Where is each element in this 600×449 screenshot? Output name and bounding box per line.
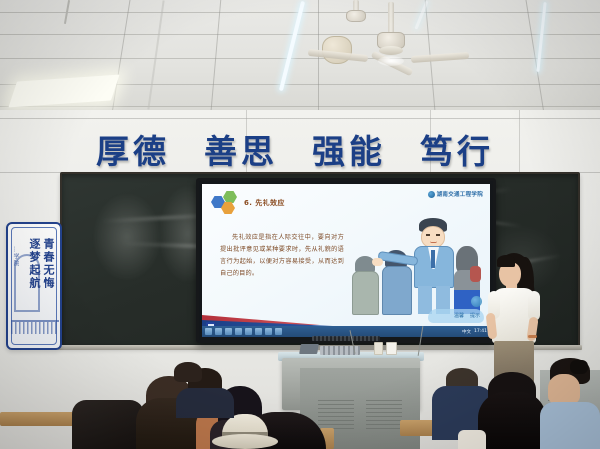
ime-indicator[interactable]: 中文 <box>462 329 471 335</box>
taskbar-icon[interactable] <box>235 328 242 335</box>
motto-char: 厚 <box>96 135 129 168</box>
student-back-row <box>168 362 208 390</box>
taskbar-icon[interactable] <box>245 328 252 335</box>
motto-char: 德 <box>133 135 166 168</box>
display-brand-label <box>312 336 380 341</box>
student-blue-top-right <box>540 358 600 449</box>
cloud-label-2: 提示 <box>470 312 480 319</box>
banner-line-1: 青春无悔 <box>43 238 54 290</box>
school-logo-icon <box>428 191 435 198</box>
student-long-hair-right <box>476 372 548 449</box>
slide-watermark-icon <box>471 296 482 307</box>
interactive-flat-panel[interactable]: 6. 先礼效应 湖南交通工程学院 先礼效应是指在人际交往中，要向对方提出批评意见… <box>196 178 496 343</box>
desk-item-cup <box>386 342 397 355</box>
banner-line-2: 逐梦起航 <box>29 238 40 290</box>
motto-char: 笃 <box>420 135 453 168</box>
illustration-person-suit <box>412 218 458 314</box>
motto-char: 强 <box>312 135 345 168</box>
school-logo: 湖南交通工程学院 <box>428 190 483 198</box>
taskbar-icon[interactable] <box>215 328 222 335</box>
cabinet-vent <box>366 400 402 430</box>
hair-clip-icon <box>570 360 588 374</box>
motto-char: 能 <box>349 135 382 168</box>
cloud-labels: 温馨 提示 <box>454 312 480 319</box>
school-logo-text: 湖南交通工程学院 <box>437 190 483 198</box>
slide-body-text: 先礼效应是指在人际交往中，要向对方提出批评意见或某种要求时，先从礼貌的语言行为起… <box>220 232 344 280</box>
banner-base-graphic <box>11 322 59 334</box>
motto-group-2: 善 思 <box>204 135 278 168</box>
student-bucket-hat <box>212 414 278 449</box>
motto-group-3: 强 能 <box>312 135 386 168</box>
teacher-bracelet <box>528 335 537 338</box>
motto-char: 行 <box>457 135 490 168</box>
slide-number: 6. <box>244 199 252 207</box>
slide-title-text: 先礼效应 <box>255 199 285 207</box>
slide-title: 6. 先礼效应 <box>244 198 285 208</box>
tube-light-right <box>279 1 305 91</box>
presentation-slide[interactable]: 6. 先礼效应 湖南交通工程学院 先礼效应是指在人际交往中，要向对方提出批评意见… <box>202 184 490 337</box>
banner-side-text: …学院 <box>11 246 20 267</box>
motto-group-1: 厚 德 <box>96 135 170 168</box>
desk-item-laptop <box>299 344 319 354</box>
taskbar-start-icon[interactable] <box>205 328 212 335</box>
wall-motto: 厚 德 善 思 强 能 笃 行 <box>96 130 516 172</box>
ceiling-fan-far <box>336 0 376 34</box>
taskbar-icon[interactable] <box>225 328 232 335</box>
hexagon-decor-icon <box>211 191 241 217</box>
motto-char: 思 <box>241 135 274 168</box>
ceiling <box>0 0 600 120</box>
taskbar-tray[interactable]: 中文 17:41 <box>462 329 487 335</box>
taskbar-icon[interactable] <box>275 328 282 335</box>
bucket-hat-brim <box>212 434 278 449</box>
motto-group-4: 笃 行 <box>420 135 494 168</box>
wall-banner: 青春无悔 逐梦起航 …学院 <box>6 222 62 350</box>
slide-illustration <box>350 212 486 316</box>
desk-item-box <box>374 342 383 355</box>
taskbar-icon[interactable] <box>255 328 262 335</box>
motto-char: 善 <box>204 135 237 168</box>
student-white-sleeve <box>458 430 486 449</box>
classroom-photo: 厚 德 善 思 强 能 笃 行 <box>0 0 600 449</box>
cloud-label-1: 温馨 <box>454 312 464 319</box>
taskbar-icon[interactable] <box>265 328 272 335</box>
ceiling-panel-light <box>8 75 119 108</box>
